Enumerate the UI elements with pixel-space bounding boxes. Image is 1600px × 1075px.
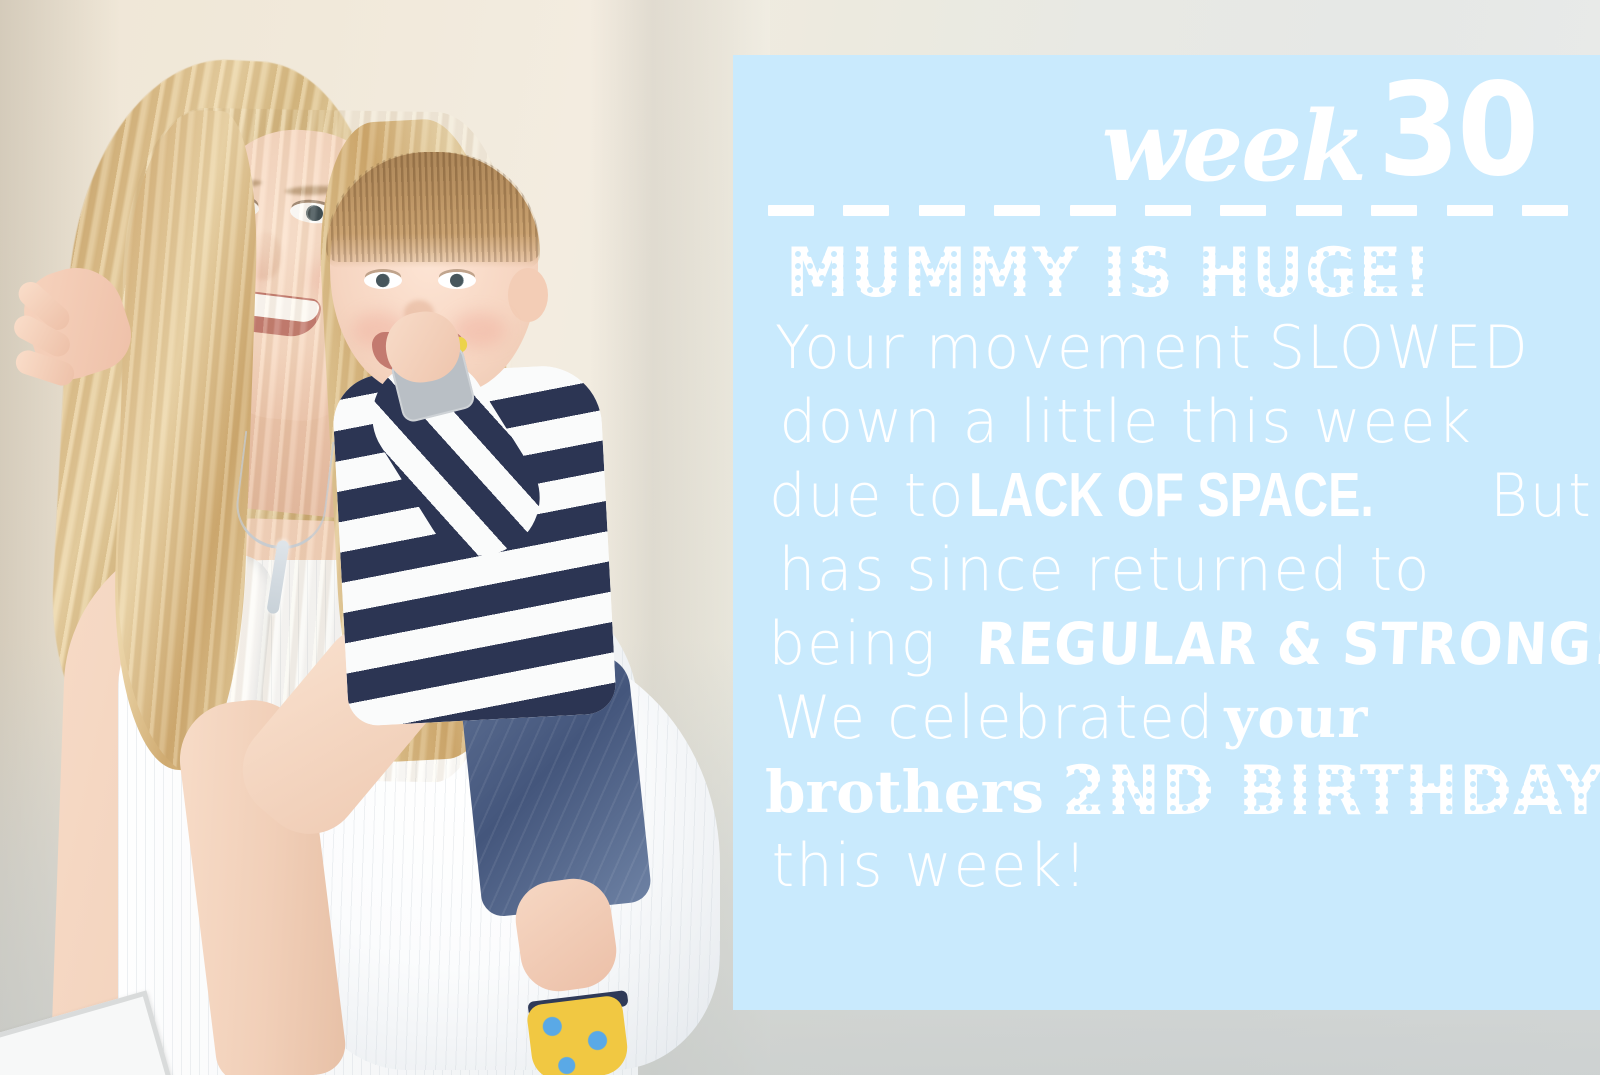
caption-line: brothers 2ND BIRTHDAY bbox=[765, 755, 1595, 829]
caption-line: being REGULAR & STRONG! bbox=[765, 607, 1595, 681]
dashed-divider bbox=[768, 203, 1568, 217]
caption-body: MUMMY IS HUGE! Your movement SLOWED down… bbox=[765, 237, 1595, 903]
caption-emphasis-slowed: SLOWED bbox=[1268, 318, 1529, 378]
divider-dash bbox=[1070, 205, 1116, 216]
caption-text: has since returned to bbox=[779, 540, 1432, 600]
caption-line: We celebrated your bbox=[765, 681, 1595, 755]
panel-header: week30 bbox=[733, 67, 1543, 195]
divider-dash bbox=[843, 205, 889, 216]
caption-text: being bbox=[769, 614, 938, 674]
divider-dash bbox=[994, 205, 1040, 216]
pregnancy-update-card: week30 MUMMY IS HUGE! Your move bbox=[0, 0, 1600, 1075]
caption-text: this week! bbox=[772, 836, 1089, 896]
toddler-pupil-right bbox=[450, 274, 463, 287]
divider-dash bbox=[1220, 205, 1266, 216]
divider-dash bbox=[768, 205, 814, 216]
caption-text: due to bbox=[769, 466, 965, 526]
caption-line: Your movement SLOWED bbox=[765, 311, 1595, 385]
divider-dash bbox=[1371, 205, 1417, 216]
caption-emphasis-mummy-is-huge: MUMMY IS HUGE! bbox=[765, 240, 1454, 308]
caption-line: this week! bbox=[765, 829, 1595, 903]
caption-emphasis-your: your bbox=[1223, 690, 1369, 746]
caption-text: down a little this week bbox=[779, 392, 1472, 452]
caption-line: MUMMY IS HUGE! bbox=[765, 237, 1595, 311]
divider-dash bbox=[1447, 205, 1493, 216]
toddler-patterned-sock bbox=[526, 994, 631, 1075]
divider-dash bbox=[1522, 205, 1568, 216]
caption-line: due to LACK OF SPACE. But bbox=[765, 459, 1595, 533]
caption-content: week30 MUMMY IS HUGE! Your move bbox=[733, 55, 1600, 1010]
toddler-ear bbox=[508, 268, 548, 322]
divider-dash bbox=[919, 205, 965, 216]
divider-dash bbox=[1145, 205, 1191, 216]
caption-emphasis-2nd-birthday: 2ND BIRTHDAY bbox=[1044, 758, 1600, 826]
caption-emphasis-regular-and-strong: REGULAR & STRONG! bbox=[975, 615, 1600, 673]
sock-pattern bbox=[526, 994, 631, 1075]
divider-dash bbox=[1296, 205, 1342, 216]
caption-line: down a little this week bbox=[765, 385, 1595, 459]
toddler-pupil-left bbox=[376, 274, 389, 287]
caption-text: Your movement bbox=[775, 318, 1253, 378]
caption-line: has since returned to bbox=[765, 533, 1595, 607]
caption-emphasis-brothers: brothers bbox=[765, 763, 1044, 821]
header-week-number: 30 bbox=[1378, 67, 1536, 195]
caption-text: We celebrated bbox=[774, 688, 1215, 748]
caption-text: But bbox=[1490, 466, 1593, 526]
header-script-week: week bbox=[1102, 90, 1365, 203]
caption-emphasis-lack-of-space: LACK OF SPACE. bbox=[969, 465, 1374, 527]
